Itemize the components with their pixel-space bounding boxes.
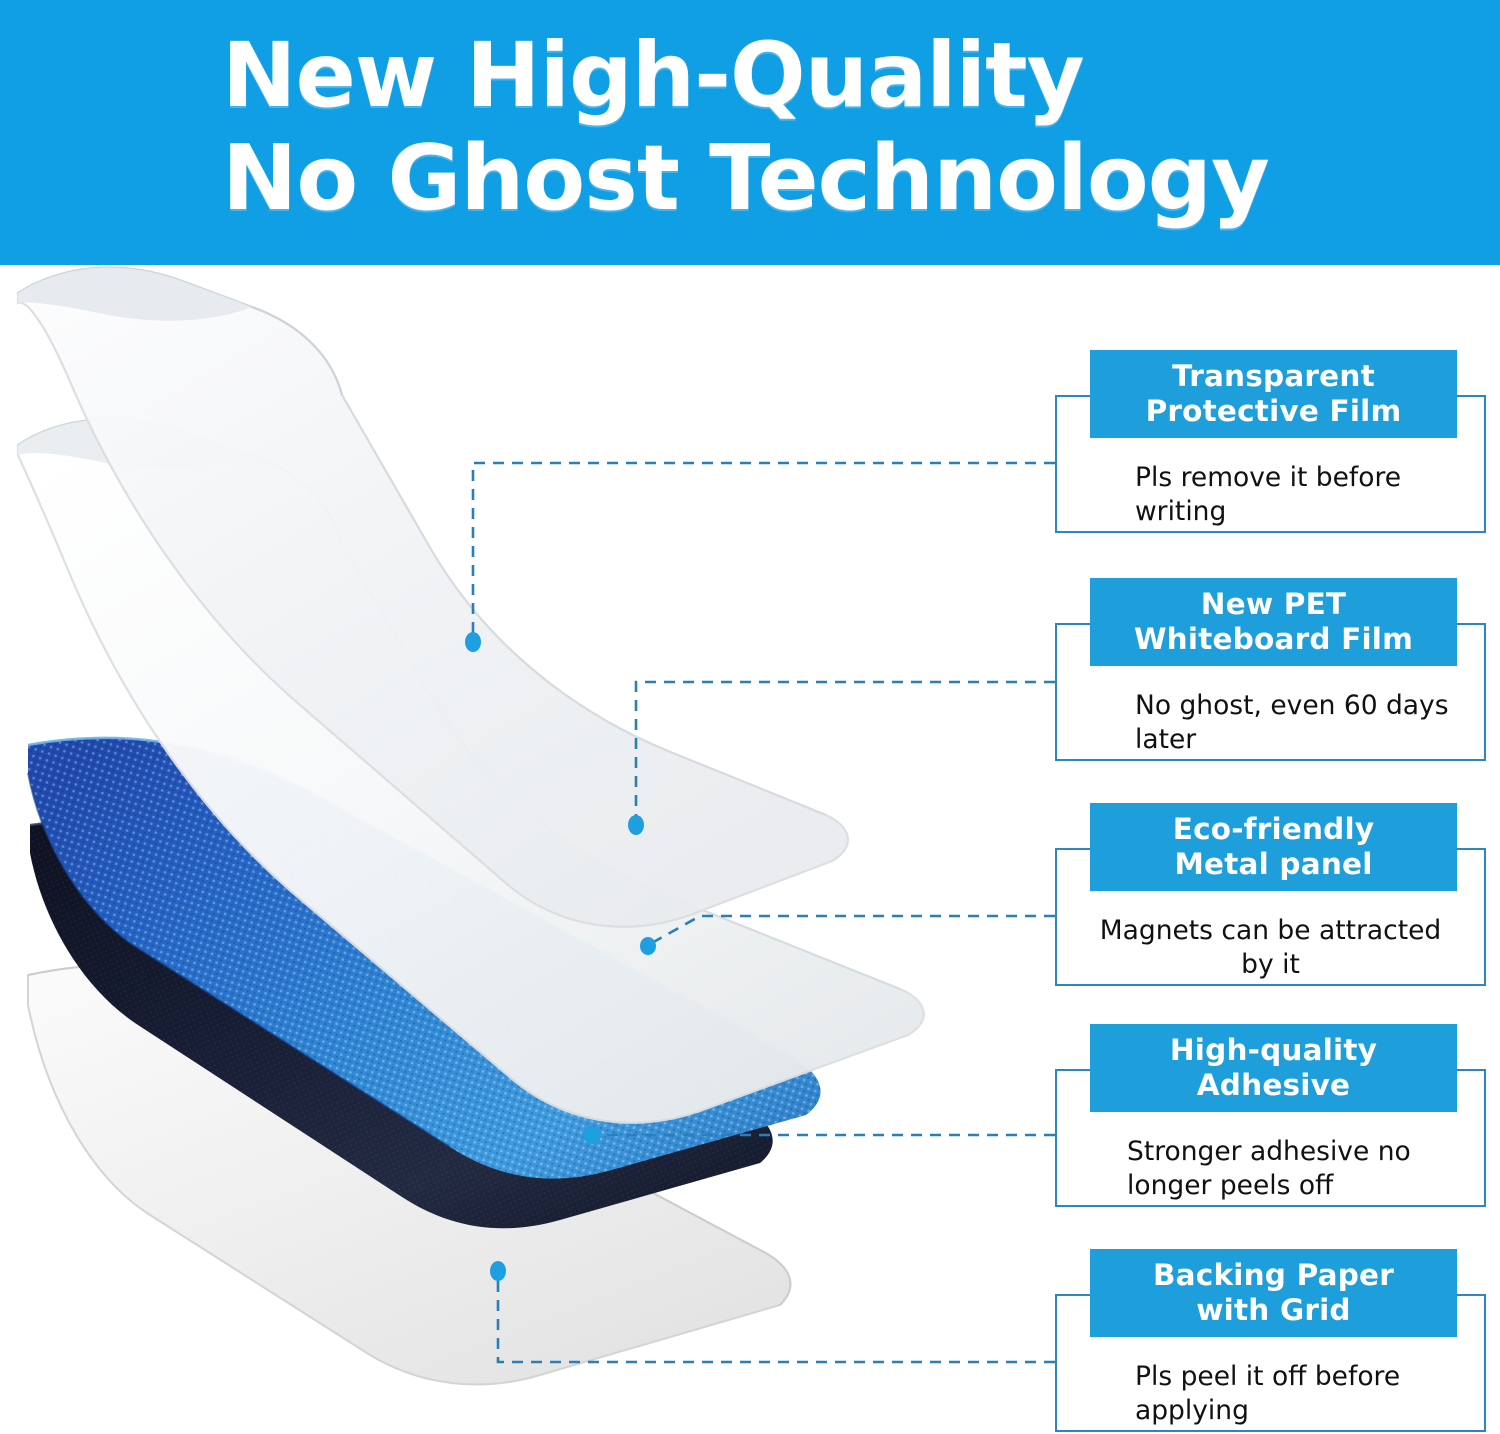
callout-title-line-2: with Grid [1153,1293,1394,1328]
callout-backing-paper-with-grid: Pls peel it off before applying Backing … [1055,1249,1488,1434]
callout-high-quality-adhesive: Stronger adhesive no longer peels off Hi… [1055,1024,1488,1209]
callout-title-line-1: Backing Paper [1153,1258,1394,1293]
callout-new-pet-whiteboard-film: No ghost, even 60 days later New PET Whi… [1055,578,1488,763]
callout-description: Pls remove it before writing [1135,461,1470,529]
product-layer-illustration [0,265,1060,1431]
callout-title-box: Backing Paper with Grid [1090,1249,1457,1337]
callout-eco-friendly-metal-panel: Magnets can be attracted by it Eco-frien… [1055,803,1488,988]
callout-title-line-1: New PET [1134,587,1413,622]
callout-title-line-2: Whiteboard Film [1134,622,1413,657]
page-title: New High-Quality No Ghost Technology [222,24,1482,232]
callout-title-box: Transparent Protective Film [1090,350,1457,438]
callout-description: Pls peel it off before applying [1135,1360,1470,1428]
callout-transparent-protective-film: Pls remove it before writing Transparent… [1055,350,1488,535]
page-title-line-2: No Ghost Technology [222,127,1482,231]
callout-title-line-2: Protective Film [1146,394,1402,429]
callout-title-box: High-quality Adhesive [1090,1024,1457,1112]
header-banner: New High-Quality No Ghost Technology [0,0,1500,265]
page-title-line-1: New High-Quality [222,24,1482,127]
callout-title-box: New PET Whiteboard Film [1090,578,1457,666]
callout-description: No ghost, even 60 days later [1135,689,1470,757]
callout-title-box: Eco-friendly Metal panel [1090,803,1457,891]
callout-description: Stronger adhesive no longer peels off [1127,1135,1470,1203]
callout-title-line-1: Eco-friendly [1173,812,1375,847]
callout-title-line-2: Metal panel [1173,847,1375,882]
callout-description: Magnets can be attracted by it [1091,914,1450,982]
callout-title-line-2: Adhesive [1170,1068,1377,1103]
callout-title-line-1: Transparent [1146,359,1402,394]
callout-title-line-1: High-quality [1170,1033,1377,1068]
